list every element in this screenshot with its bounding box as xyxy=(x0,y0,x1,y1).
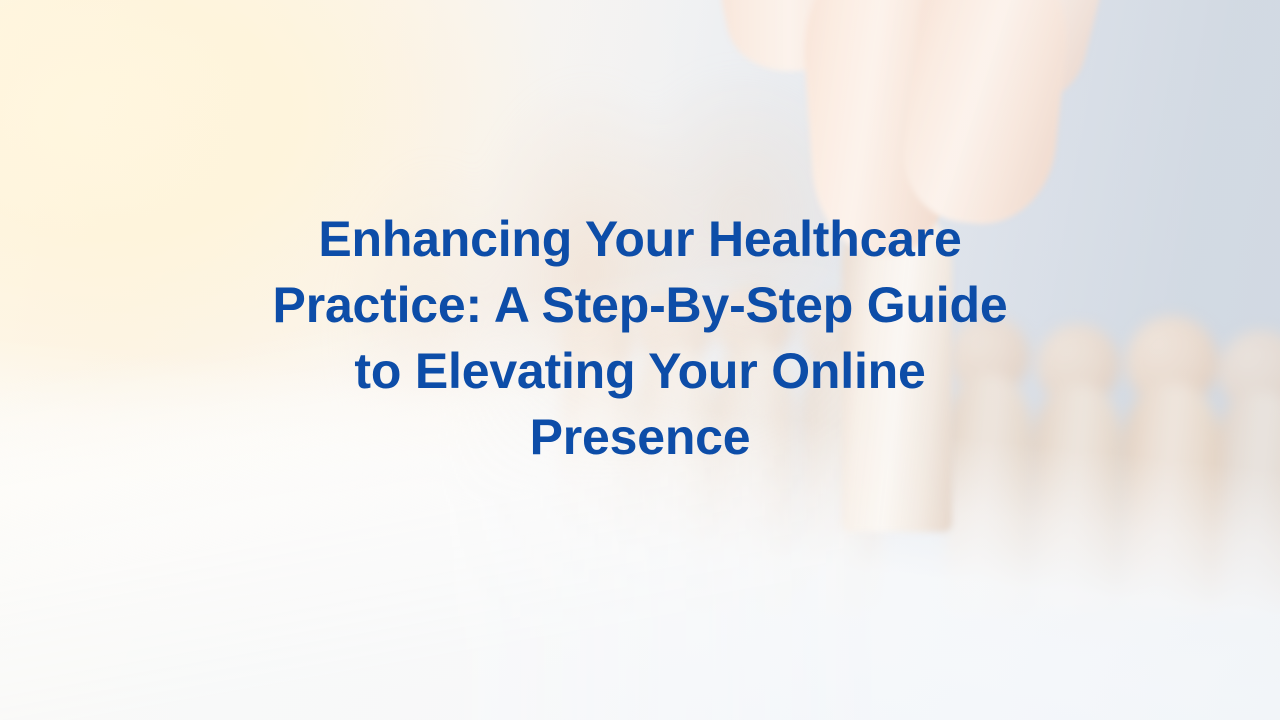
hand-thumb-back xyxy=(945,0,1117,113)
thumb-finger xyxy=(898,0,1076,231)
page-title: Enhancing Your Healthcare Practice: A St… xyxy=(46,206,1234,470)
title-block: Enhancing Your Healthcare Practice: A St… xyxy=(0,206,1280,470)
hero-banner: Enhancing Your Healthcare Practice: A St… xyxy=(0,0,1280,720)
hand-knuckle xyxy=(708,0,886,84)
